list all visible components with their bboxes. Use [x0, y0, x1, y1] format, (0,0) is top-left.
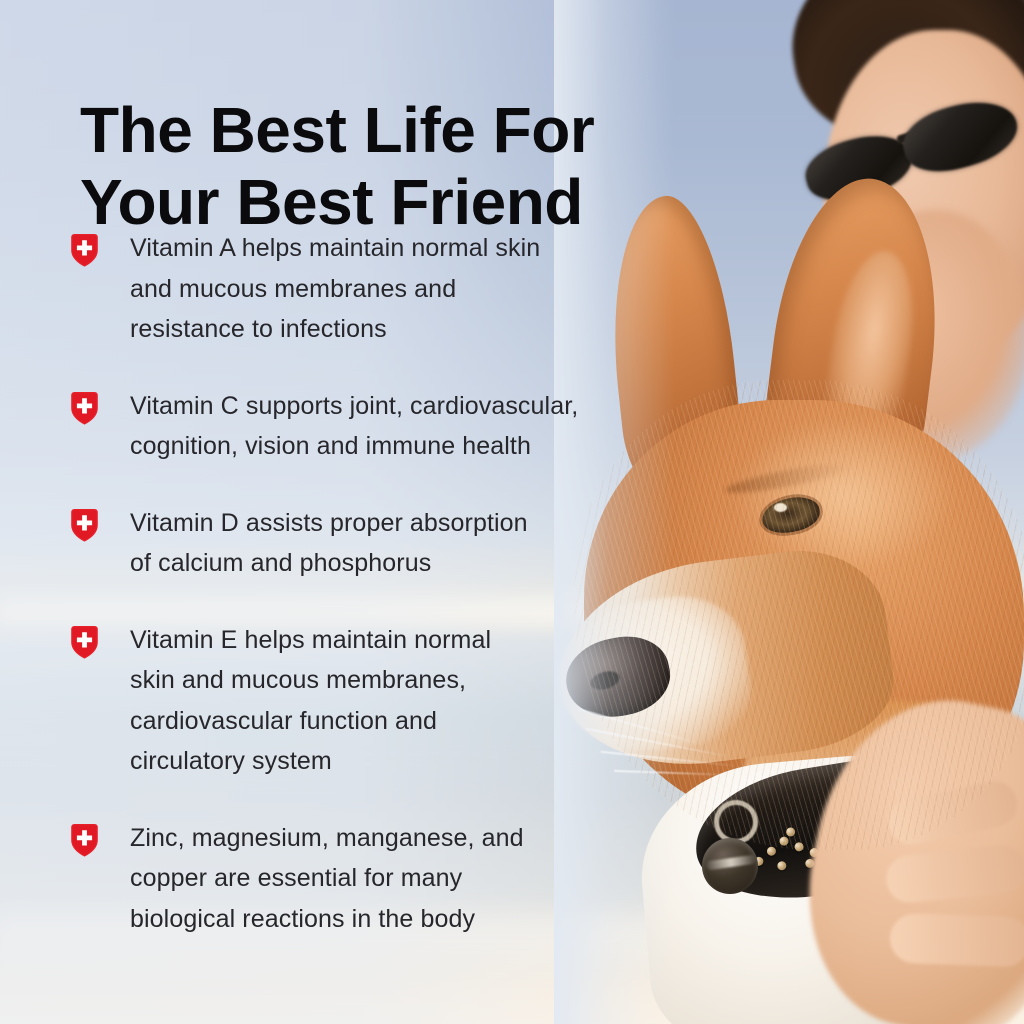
list-item-text: Zinc, magnesium, manganese, and copper a… [130, 818, 524, 940]
list-item-line: Vitamin E helps maintain normal [130, 620, 491, 661]
list-item: Vitamin D assists proper absorption of c… [70, 503, 670, 584]
red-shield-cross-icon [70, 391, 99, 425]
collar-stud [779, 836, 789, 846]
list-item-line: of calcium and phosphorus [130, 543, 528, 584]
list-item-line: cognition, vision and immune health [130, 426, 578, 467]
dog-eye-highlight [774, 503, 787, 512]
list-item-line: biological reactions in the body [130, 899, 524, 940]
list-item-text: Vitamin C supports joint, cardiovascular… [130, 386, 578, 467]
list-item-line: Vitamin C supports joint, cardiovascular… [130, 386, 578, 427]
collar-stud [794, 842, 804, 852]
list-item: Zinc, magnesium, manganese, and copper a… [70, 818, 670, 940]
list-item-text: Vitamin D assists proper absorption of c… [130, 503, 528, 584]
collar-stud [766, 846, 776, 856]
red-shield-cross-icon [70, 625, 99, 659]
list-item-line: circulatory system [130, 741, 491, 782]
poster-canvas: The Best Life For Your Best Friend Vitam… [0, 0, 1024, 1024]
list-item-line: cardiovascular function and [130, 701, 491, 742]
red-shield-cross-icon [70, 233, 99, 267]
list-item-line: resistance to infections [130, 309, 540, 350]
page-title: The Best Life For Your Best Friend [80, 95, 660, 238]
list-item: Vitamin C supports joint, cardiovascular… [70, 386, 670, 467]
list-item-line: Vitamin D assists proper absorption [130, 503, 528, 544]
list-item-line: Zinc, magnesium, manganese, and [130, 818, 524, 859]
list-item-line: copper are essential for many [130, 858, 524, 899]
list-item: Vitamin A helps maintain normal skin and… [70, 228, 670, 350]
red-shield-cross-icon [70, 823, 99, 857]
benefits-list: Vitamin A helps maintain normal skin and… [70, 228, 670, 975]
man-finger [889, 913, 1024, 968]
dog-forehead-highlight [734, 420, 954, 570]
collar-stud [777, 861, 787, 871]
list-item-line: and mucous membranes and [130, 269, 540, 310]
list-item: Vitamin E helps maintain normal skin and… [70, 620, 670, 782]
list-item-text: Vitamin A helps maintain normal skin and… [130, 228, 540, 350]
list-item-line: skin and mucous membranes, [130, 660, 491, 701]
list-item-text: Vitamin E helps maintain normal skin and… [130, 620, 491, 782]
list-item-line: Vitamin A helps maintain normal skin [130, 228, 540, 269]
red-shield-cross-icon [70, 508, 99, 542]
page-title-line-1: The Best Life For [80, 95, 660, 167]
collar-stud [786, 827, 796, 837]
